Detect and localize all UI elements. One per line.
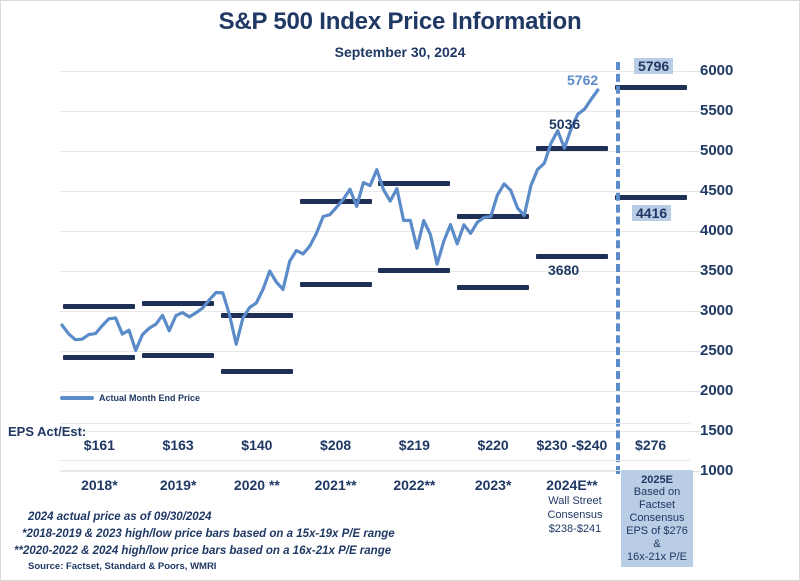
source-note: Source: Factset, Standard & Poors, WMRI bbox=[28, 561, 216, 572]
footnote-2: *2018-2019 & 2023 high/low price bars ba… bbox=[22, 528, 395, 540]
y-axis-tick-label: 3500 bbox=[700, 262, 770, 279]
y-tick-mark bbox=[690, 71, 700, 72]
y-axis-tick-label: 6000 bbox=[700, 62, 770, 79]
year-cell: 2024E** bbox=[512, 477, 632, 493]
forecast-2025-box: 2025E Based on Factset Consensus EPS of … bbox=[621, 470, 693, 567]
page-subtitle: September 30, 2024 bbox=[0, 44, 800, 60]
footnote-3: **2020-2022 & 2024 high/low price bars b… bbox=[14, 545, 391, 557]
label-5796: 5796 bbox=[634, 58, 673, 74]
forecast-2025-line3: Consensus bbox=[621, 512, 693, 525]
y-axis-tick-label: 5000 bbox=[700, 142, 770, 159]
y-axis-tick-label: 5500 bbox=[700, 102, 770, 119]
y-axis-tick-label: 1000 bbox=[700, 462, 770, 479]
y-axis-tick-label: 2000 bbox=[700, 382, 770, 399]
table-rule-top bbox=[60, 423, 690, 424]
y-tick-mark bbox=[690, 351, 700, 352]
y-tick-mark bbox=[690, 311, 700, 312]
y-axis-tick-label: 4500 bbox=[700, 182, 770, 199]
eps-cell: $276 bbox=[591, 437, 711, 453]
consensus-line-1: Wall Street bbox=[530, 494, 620, 508]
label-5762: 5762 bbox=[567, 72, 598, 88]
y-tick-mark bbox=[690, 431, 700, 432]
label-3680: 3680 bbox=[548, 262, 579, 278]
y-tick-mark bbox=[690, 271, 700, 272]
legend-line-swatch bbox=[60, 396, 94, 400]
actual-month-end-price-line bbox=[60, 71, 690, 471]
page-title: S&P 500 Index Price Information bbox=[0, 8, 800, 36]
y-tick-mark bbox=[690, 151, 700, 152]
y-axis-tick-label: 4000 bbox=[700, 222, 770, 239]
forecast-2025-line4: EPS of $276 & bbox=[621, 525, 693, 551]
y-tick-mark bbox=[690, 191, 700, 192]
y-tick-mark bbox=[690, 111, 700, 112]
y-tick-mark bbox=[690, 231, 700, 232]
chart-legend: Actual Month End Price bbox=[60, 393, 200, 403]
consensus-line-3: $238-$241 bbox=[530, 522, 620, 536]
forecast-2025-line2: Factset bbox=[621, 499, 693, 512]
forecast-2025-line5: 16x-21x P/E bbox=[621, 551, 693, 564]
price-line-path bbox=[62, 90, 598, 350]
forecast-2025-header: 2025E bbox=[621, 474, 693, 486]
y-axis-tick-label: 2500 bbox=[700, 342, 770, 359]
consensus-line-2: Consensus bbox=[530, 508, 620, 522]
legend-label: Actual Month End Price bbox=[99, 393, 200, 403]
label-4416: 4416 bbox=[632, 205, 671, 221]
forecast-divider bbox=[616, 62, 620, 474]
table-rule-mid bbox=[60, 460, 690, 461]
y-tick-mark bbox=[690, 391, 700, 392]
footnote-1: 2024 actual price as of 09/30/2024 bbox=[28, 511, 211, 523]
label-5036: 5036 bbox=[549, 116, 580, 132]
y-axis-tick-label: 3000 bbox=[700, 302, 770, 319]
table-rule-bottom bbox=[60, 470, 690, 471]
gridline bbox=[60, 471, 690, 472]
forecast-2025-line1: Based on bbox=[621, 486, 693, 499]
